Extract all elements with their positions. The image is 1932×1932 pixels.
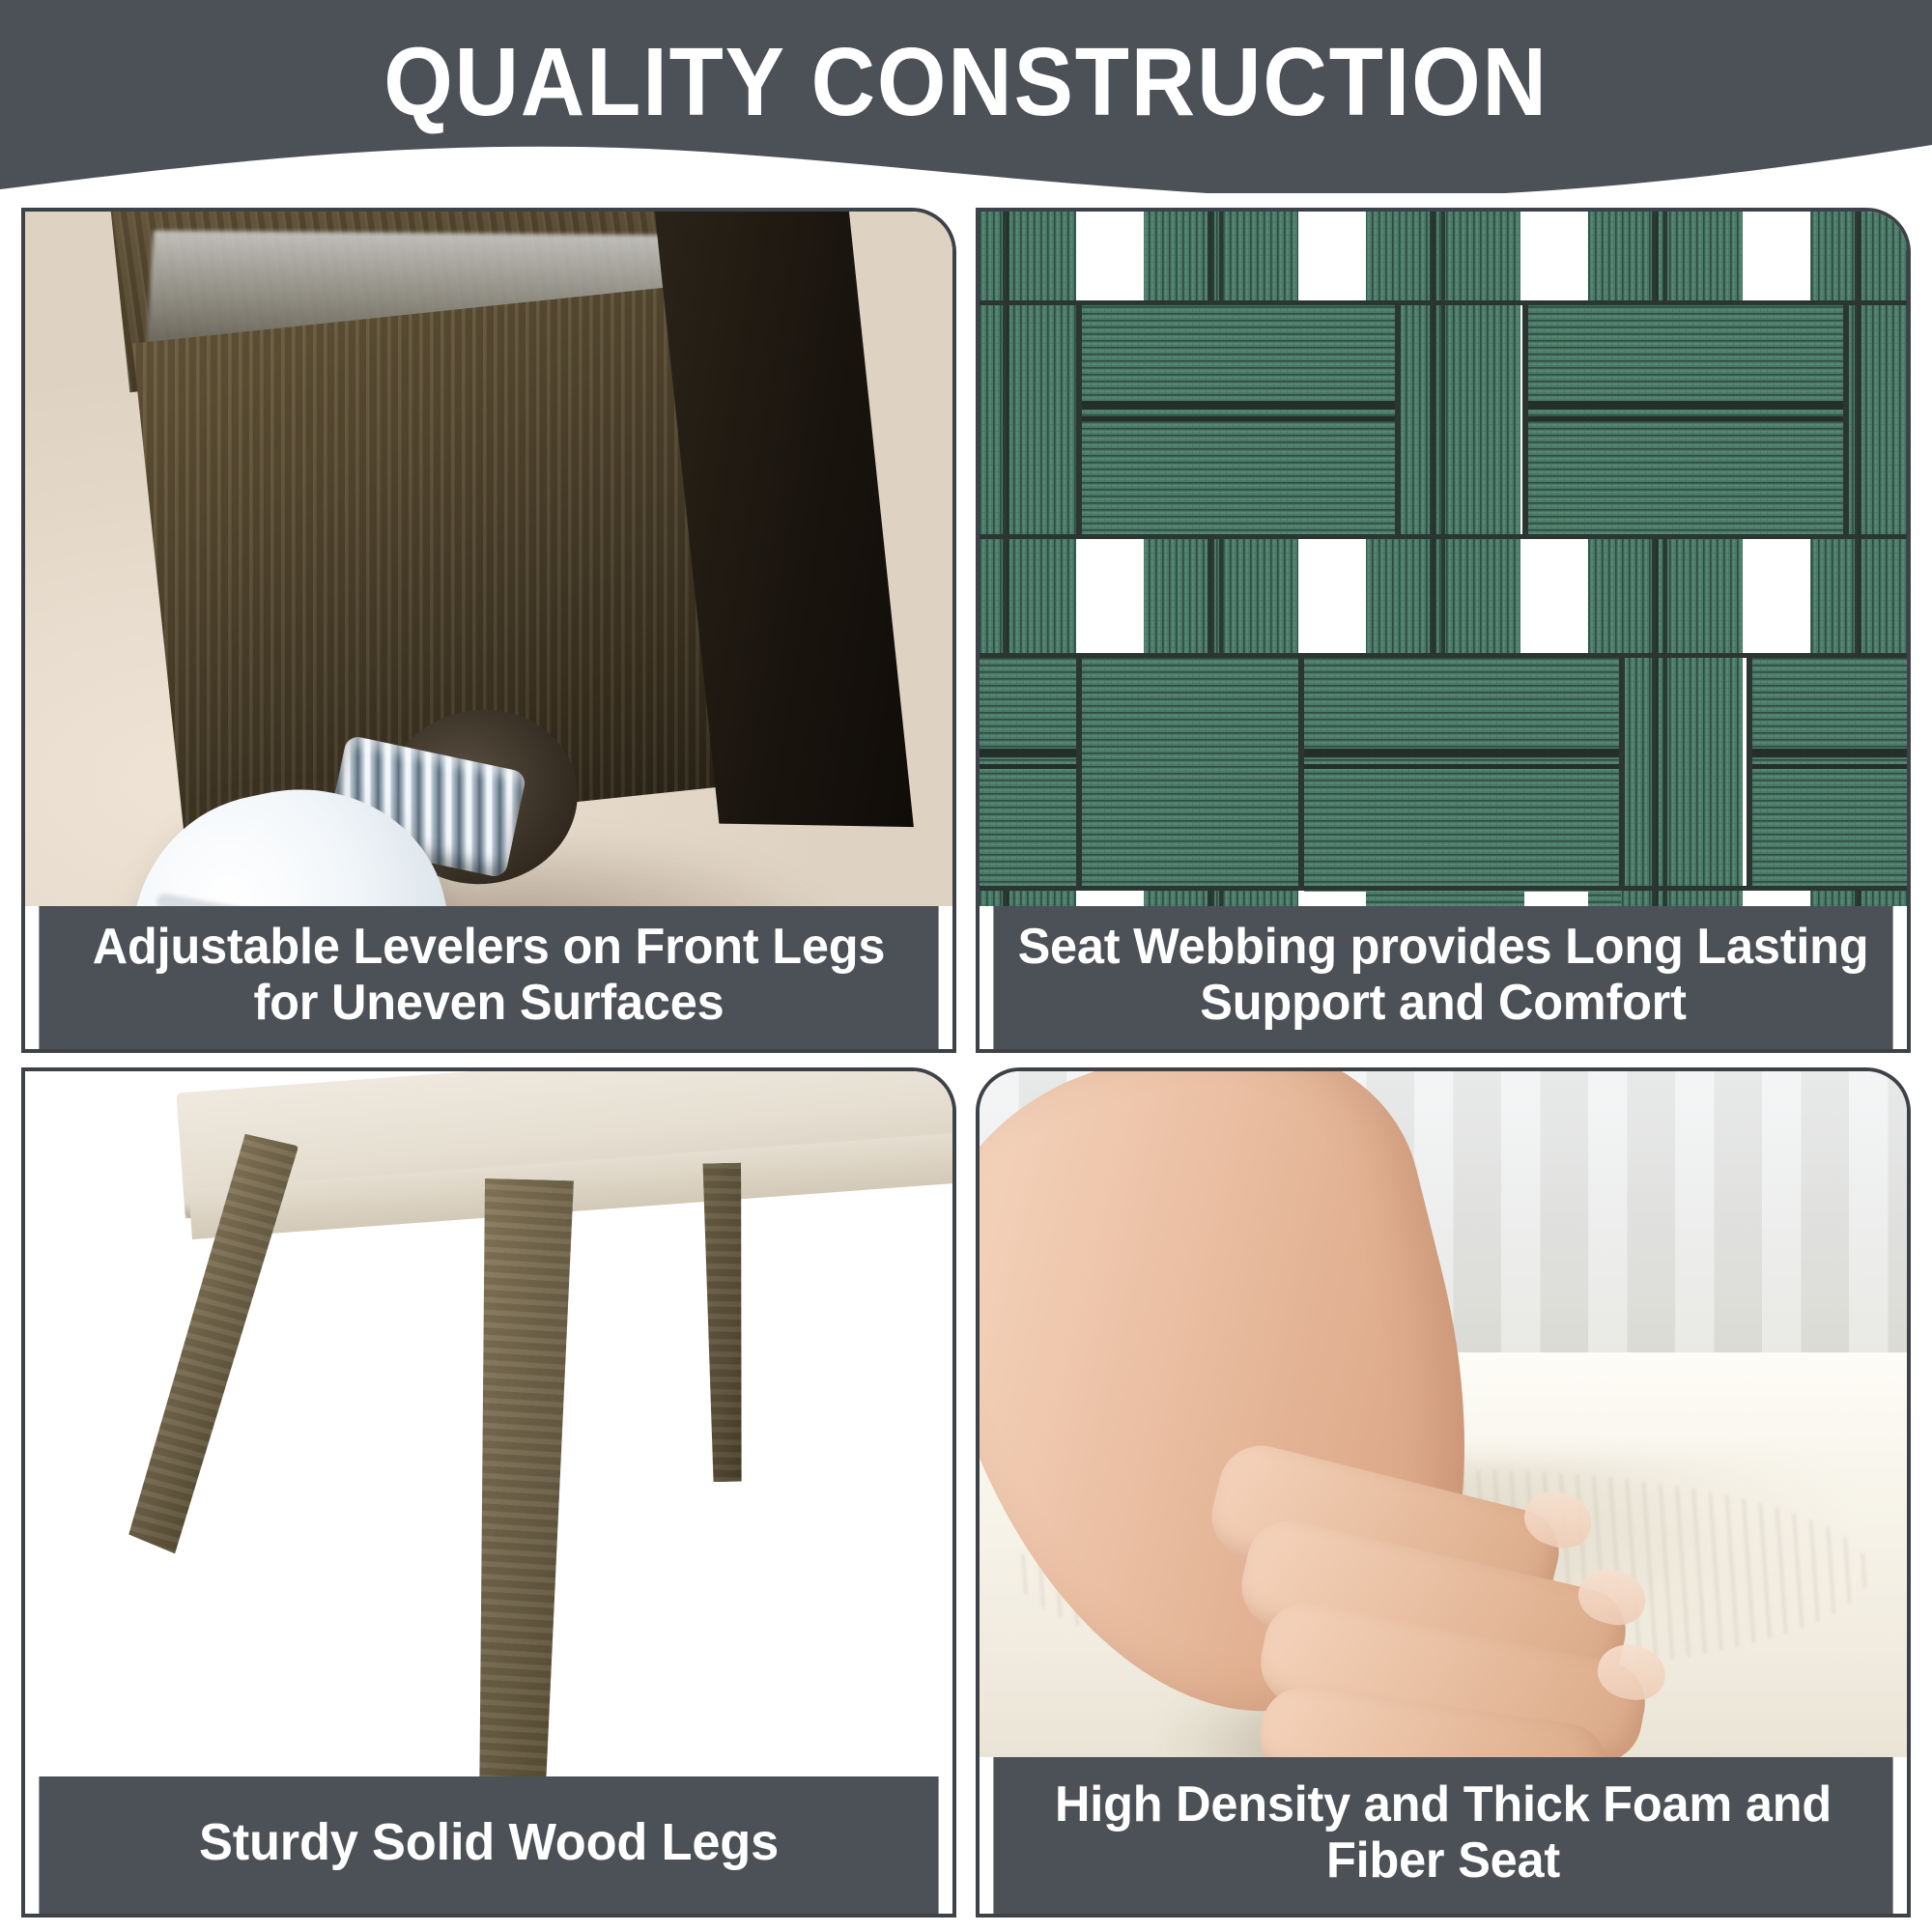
page-title: QUALITY CONSTRUCTION [77, 29, 1855, 135]
header-banner: QUALITY CONSTRUCTION [0, 0, 1932, 193]
pressing-hand [980, 1071, 1733, 1757]
leveler-scene-background [25, 212, 952, 906]
caption-high-density-foam: High Density and Thick Foam and Fiber Se… [993, 1757, 1892, 1914]
leveler-photo [25, 212, 952, 906]
feature-card-solid-wood-legs: Sturdy Solid Wood Legs [21, 1067, 956, 1918]
feature-card-high-density-foam: High Density and Thick Foam and Fiber Se… [976, 1067, 1911, 1918]
feature-card-adjustable-levelers: Adjustable Levelers on Front Legs for Un… [21, 208, 956, 1053]
webbing-weave-graphic [980, 212, 1907, 906]
wood-legs-photo [25, 1071, 952, 1776]
wood-leg-front-right [460, 1179, 574, 1776]
infographic-page: QUALITY CONSTRUCTION Adjustable Levelers… [0, 0, 1932, 1932]
caption-adjustable-levelers: Adjustable Levelers on Front Legs for Un… [39, 906, 938, 1049]
foam-scene [980, 1071, 1907, 1757]
caption-seat-webbing: Seat Webbing provides Long Lasting Suppo… [993, 906, 1892, 1049]
foam-press-photo [980, 1071, 1907, 1757]
caption-solid-wood-legs: Sturdy Solid Wood Legs [39, 1776, 938, 1914]
seat-webbing-photo [980, 212, 1907, 906]
feature-card-seat-webbing: Seat Webbing provides Long Lasting Suppo… [976, 208, 1911, 1053]
wood-legs-scene [25, 1071, 952, 1776]
wood-leg-back-right [698, 1163, 747, 1483]
